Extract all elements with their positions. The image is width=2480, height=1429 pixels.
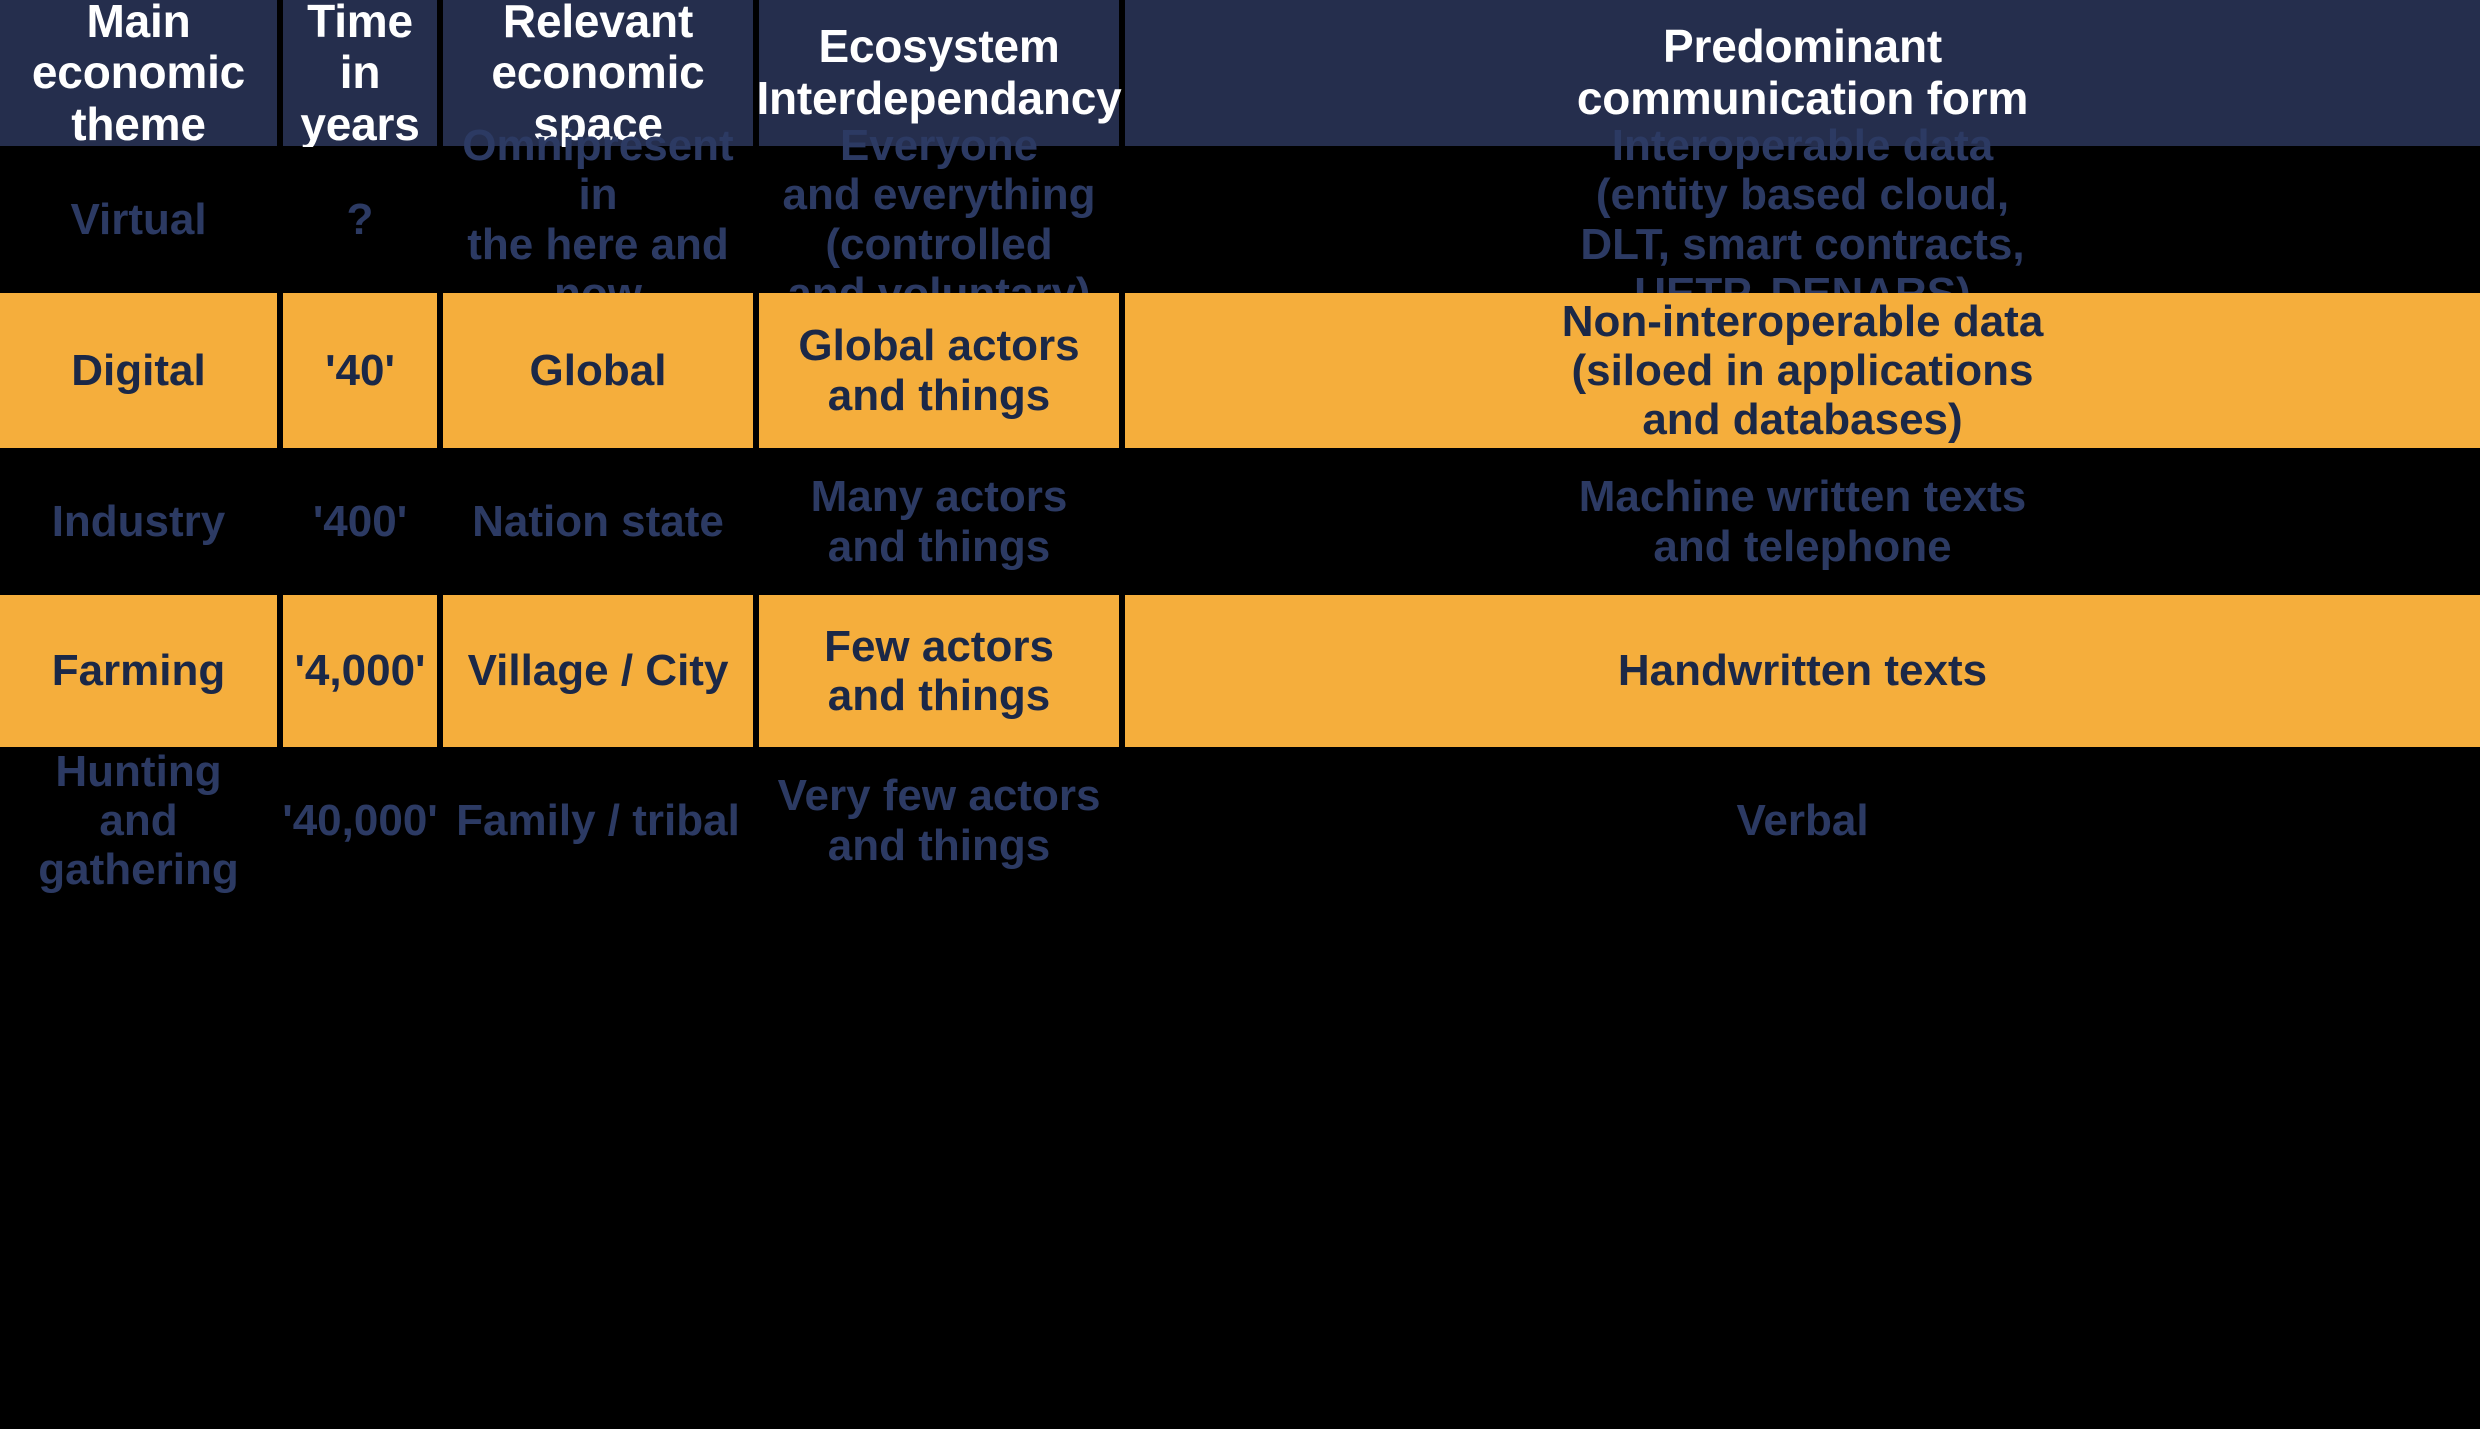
cell-time: ?	[283, 147, 437, 292]
cell-text-line1: Very few actors	[778, 771, 1101, 820]
cell-text-line2: and everything	[783, 170, 1096, 219]
cell-text-line1: Machine written texts	[1579, 472, 2026, 521]
cell-text-line1: Verbal	[1736, 796, 1868, 845]
cell-economic-space: Family / tribal	[443, 748, 753, 893]
cell-text-line1: Global actors	[798, 321, 1079, 370]
header-label-line1: Ecosystem	[818, 20, 1059, 72]
header-label-line2: communication form	[1577, 72, 2028, 124]
cell-time: '400'	[283, 449, 437, 594]
cell-economic-space: Nation state	[443, 449, 753, 594]
cell-time: '4,000'	[283, 595, 437, 747]
cell-text-line2: and things	[828, 671, 1050, 720]
cell-communication: Non-interoperable data (siloed in applic…	[1125, 293, 2480, 448]
cell-text-line2: and gathering	[38, 796, 238, 894]
header-cell-time-in-years: Time in years	[283, 0, 437, 146]
cell-theme: Hunting and gathering	[0, 748, 277, 893]
cell-text-line1: Family / tribal	[456, 796, 740, 845]
cell-text-line2: (siloed in applications	[1571, 346, 2033, 395]
cell-theme: Digital	[0, 293, 277, 448]
cell-economic-space: Village / City	[443, 595, 753, 747]
cell-economic-space: Global	[443, 293, 753, 448]
cell-text: '400'	[313, 497, 407, 546]
header-label-line1: Predominant	[1663, 20, 1942, 72]
header-label-line1: Relevant	[503, 0, 693, 47]
cell-text-line1: Nation state	[472, 497, 724, 546]
table-row-farming: Farming '4,000' Village / City Few actor…	[0, 595, 2480, 747]
table-row-virtual: Virtual ? Omnipresent in the here and no…	[0, 147, 2480, 292]
cell-text-line1: Global	[530, 346, 667, 395]
cell-communication: Machine written texts and telephone	[1125, 449, 2480, 594]
cell-text: Industry	[52, 497, 226, 546]
header-label-line1: Main economic	[32, 0, 245, 98]
cell-text-line1: Non-interoperable data	[1562, 297, 2044, 346]
cell-ecosystem: Very few actors and things	[759, 748, 1119, 893]
cell-text-line2: and things	[828, 522, 1050, 571]
cell-text-line2: and things	[828, 821, 1050, 870]
cell-theme: Virtual	[0, 147, 277, 292]
cell-text: Virtual	[70, 195, 206, 244]
cell-time: '40,000'	[283, 748, 437, 893]
cell-time: '40'	[283, 293, 437, 448]
cell-communication: Verbal	[1125, 748, 2480, 893]
header-label-line1: Time	[307, 0, 413, 47]
economic-eras-table: Main economic theme Time in years Releva…	[0, 0, 2480, 1429]
cell-text-line3: (controlled	[825, 220, 1052, 269]
cell-economic-space: Omnipresent in the here and now	[443, 147, 753, 292]
cell-text-line1: Village / City	[468, 646, 729, 695]
bottom-filler	[0, 893, 2480, 1429]
cell-communication: Interoperable data (entity based cloud, …	[1125, 147, 2480, 292]
cell-text-line3: and databases)	[1642, 395, 1962, 444]
cell-text-line1: Hunting	[55, 747, 221, 796]
cell-text-line1: Few actors	[824, 622, 1054, 671]
table-row-hunting-and-gathering: Hunting and gathering '40,000' Family / …	[0, 748, 2480, 893]
cell-text: ?	[347, 195, 374, 244]
cell-text-line1: Omnipresent in	[462, 121, 733, 219]
cell-text-line1: Handwritten texts	[1618, 646, 1987, 695]
table-row-industry: Industry '400' Nation state Many actors …	[0, 449, 2480, 594]
cell-text-line2: (entity based cloud,	[1596, 170, 2009, 219]
cell-ecosystem: Many actors and things	[759, 449, 1119, 594]
cell-theme: Farming	[0, 595, 277, 747]
cell-text: '40,000'	[282, 796, 438, 845]
cell-ecosystem: Everyone and everything (controlled and …	[759, 147, 1119, 292]
cell-theme: Industry	[0, 449, 277, 594]
cell-text-line3: DLT, smart contracts,	[1580, 220, 2024, 269]
cell-text: Digital	[71, 346, 205, 395]
cell-communication: Handwritten texts	[1125, 595, 2480, 747]
cell-text: Farming	[52, 646, 226, 695]
cell-text-line2: and things	[828, 371, 1050, 420]
header-label-line2: theme	[71, 98, 206, 150]
cell-ecosystem: Global actors and things	[759, 293, 1119, 448]
cell-ecosystem: Few actors and things	[759, 595, 1119, 747]
cell-text: '4,000'	[294, 646, 425, 695]
header-label-line2: in years	[300, 46, 419, 150]
table-header-row: Main economic theme Time in years Releva…	[0, 0, 2480, 146]
header-cell-main-economic-theme: Main economic theme	[0, 0, 277, 146]
cell-text-line1: Everyone	[840, 121, 1038, 170]
header-label-line2: Interdependancy	[756, 72, 1121, 124]
cell-text-line1: Many actors	[811, 472, 1068, 521]
cell-text-line2: and telephone	[1653, 522, 1951, 571]
cell-text-line1: Interoperable data	[1612, 121, 1993, 170]
table-row-digital: Digital '40' Global Global actors and th…	[0, 293, 2480, 448]
cell-text: '40'	[325, 346, 395, 395]
